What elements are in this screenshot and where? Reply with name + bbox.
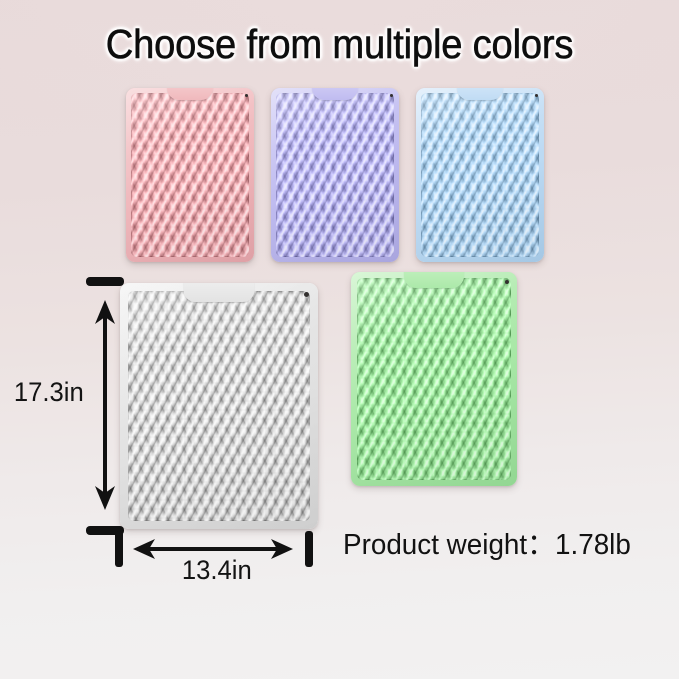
width-tick-left [115,531,123,567]
mat-purple[interactable] [271,88,399,262]
mat-pink[interactable] [126,88,254,262]
mat-hang-hole [535,94,538,97]
mat-color-wash [128,291,310,521]
mat-hang-hole [245,94,248,97]
mat-texture-field [131,93,249,257]
mat-notch [167,88,213,100]
mat-green[interactable] [351,272,517,486]
page-title: Choose from multiple colors [24,20,655,68]
mat-notch [404,272,464,288]
mat-gray[interactable] [120,283,318,529]
mat-hang-hole [505,280,509,284]
weight-label: Product weight：1.78lb [343,528,631,562]
mat-color-wash [421,93,539,257]
mat-texture-field [421,93,539,257]
mat-texture-field [276,93,394,257]
height-label: 17.3in [14,377,84,407]
mat-color-wash [357,278,511,480]
mat-notch [312,88,358,100]
mat-hang-hole [390,94,393,97]
mat-notch [184,283,255,302]
mat-texture-field [128,291,310,521]
mat-color-wash [276,93,394,257]
width-tick-right [305,531,313,567]
mat-notch [457,88,503,100]
product-image: Choose from multiple colors 17.3in 13.4i… [0,0,679,679]
mat-blue[interactable] [416,88,544,262]
width-label: 13.4in [182,555,252,585]
height-arrow [88,300,122,510]
mat-hang-hole [304,292,309,297]
mat-texture-field [357,278,511,480]
mat-color-wash [131,93,249,257]
height-tick-top [86,277,124,286]
